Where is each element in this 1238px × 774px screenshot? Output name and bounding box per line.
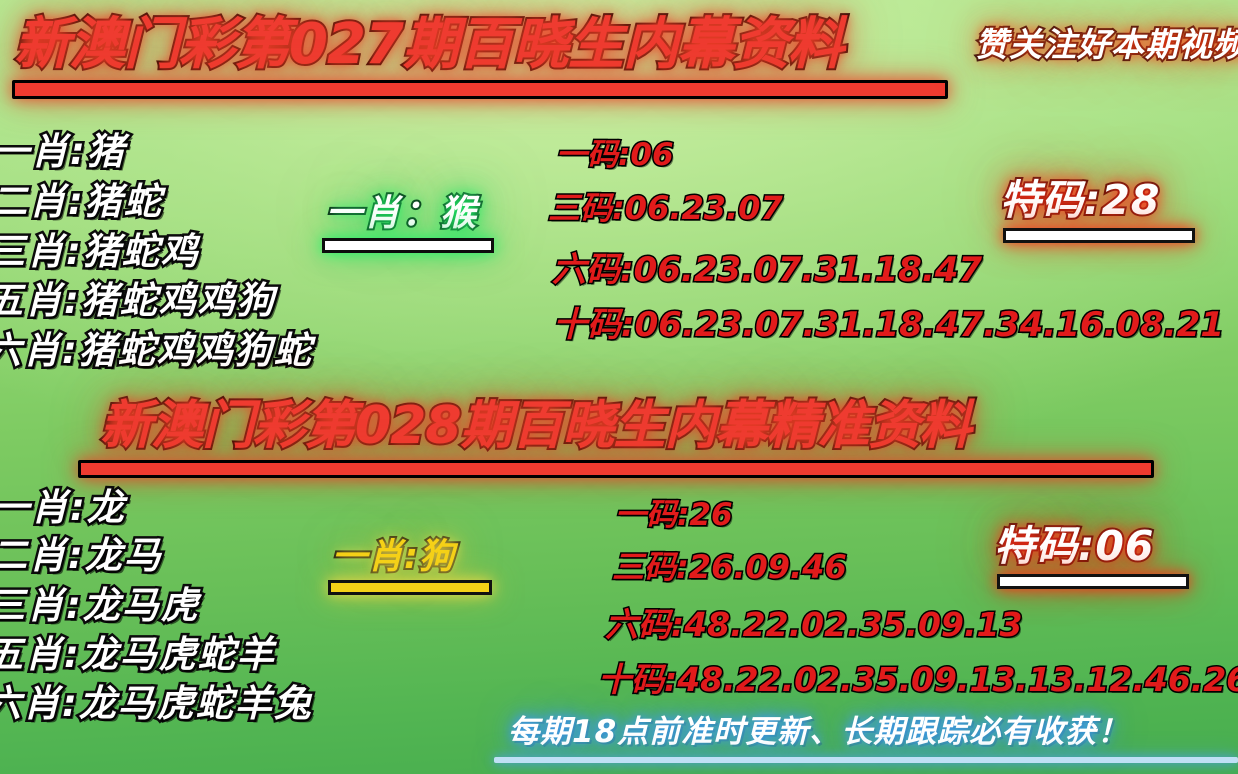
section2-zodiac-row-5: 六肖:龙马虎蛇羊兔 xyxy=(0,685,313,722)
section1-code-line-3: 六码:06.23.07.31.18.47 xyxy=(552,253,982,287)
section1-zodiac-row-3: 三肖:猪蛇鸡 xyxy=(0,233,200,270)
section1-title: 新澳门彩第027期百晓生内幕资料 xyxy=(14,17,843,73)
section2-code-line-2: 三码:26.09.46 xyxy=(612,551,847,583)
section2-title: 新澳门彩第028期百晓生内幕精准资料 xyxy=(100,400,971,452)
section1-code-line-4: 十码:06.23.07.31.18.47.34.16.08.21 xyxy=(553,308,1224,342)
section2-title-underline xyxy=(78,460,1154,478)
section1-special-underline xyxy=(1003,228,1195,243)
section2-code-line-1: 一码:26 xyxy=(615,500,733,531)
section1-zodiac-row-2: 二肖:猪蛇 xyxy=(0,183,163,220)
section1-title-underline xyxy=(12,80,948,99)
section1-code-line-1: 一码:06 xyxy=(556,140,674,171)
section1-zodiac-row-4: 五肖:猪蛇鸡鸡狗 xyxy=(0,282,276,319)
section2-code-line-4: 十码:48.22.02.35.09.13.13.12.46.26.03 xyxy=(598,663,1238,696)
section2-code-line-3: 六码:48.22.02.35.09.13 xyxy=(605,608,1022,641)
section1-code-line-2: 三码:06.23.07 xyxy=(548,192,783,224)
section2-special-code: 特码:06 xyxy=(994,526,1154,567)
section1-zodiac-row-5: 六肖:猪蛇鸡鸡狗蛇 xyxy=(0,332,313,369)
section1-zodiac-row-1: 一肖:猪 xyxy=(0,133,126,170)
section1-pick-label: 一肖：猴 xyxy=(326,196,478,232)
section1-pick-underline xyxy=(322,238,494,253)
footer-note: 每期18点前准时更新、长期跟踪必有收获！ xyxy=(508,717,1129,748)
poster-canvas: 新澳门彩第027期百晓生内幕资料 赞关注好本期视频 一肖:猪 二肖:猪蛇 三肖:… xyxy=(0,0,1238,774)
section2-zodiac-row-4: 五肖:龙马虎蛇羊 xyxy=(0,636,276,673)
section2-zodiac-row-2: 二肖:龙马 xyxy=(0,537,163,574)
section2-zodiac-row-3: 三肖:龙马虎 xyxy=(0,587,200,624)
section2-zodiac-row-1: 一肖:龙 xyxy=(0,489,126,526)
section1-promo-text: 赞关注好本期视频 xyxy=(975,28,1238,61)
section1-special-code: 特码:28 xyxy=(1000,180,1160,221)
section2-pick-label: 一肖:狗 xyxy=(332,540,455,575)
section2-pick-underline xyxy=(328,580,492,595)
footer-underline xyxy=(494,757,1238,763)
section2-special-underline xyxy=(997,574,1189,589)
